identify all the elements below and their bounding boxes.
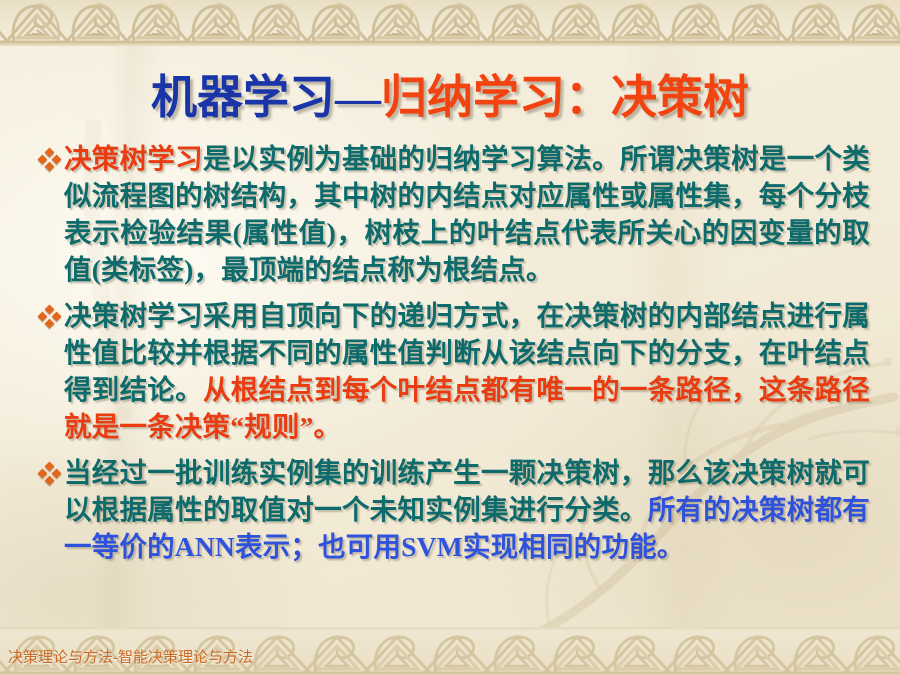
diamond-bullet-icon	[37, 147, 61, 171]
bullet-text-2: 决策树学习采用自顶向下的递归方式，在决策树的内部结点进行属性值比较并根据不同的属…	[64, 297, 870, 445]
bullet-list: 决策树学习是以实例为基础的归纳学习算法。所谓决策树是一个类似流程图的树结构，其中…	[34, 140, 870, 574]
bullet-text-1: 决策树学习是以实例为基础的归纳学习算法。所谓决策树是一个类似流程图的树结构，其中…	[64, 140, 870, 288]
slide-title: 机器学习—归纳学习：决策树	[0, 70, 900, 126]
title-part-1: 机器学习—	[151, 72, 381, 123]
slide-canvas: 机器学习—归纳学习：决策树 决策树学习是以实例为基础的归纳学习算法。所谓决策树是…	[0, 0, 900, 675]
bullet-1-run-1: 决策树学习	[64, 143, 203, 174]
list-item: 决策树学习采用自顶向下的递归方式，在决策树的内部结点进行属性值比较并根据不同的属…	[34, 297, 870, 445]
bullet-marker	[34, 454, 64, 482]
diamond-bullet-icon	[37, 304, 61, 328]
bullet-marker	[34, 140, 64, 168]
bullet-marker	[34, 297, 64, 325]
diamond-bullet-icon	[37, 461, 61, 485]
bullet-text-3: 当经过一批训练实例集的训练产生一颗决策树，那么该决策树就可以根据属性的取值对一个…	[64, 454, 870, 565]
title-part-2: 归纳学习：决策树	[381, 72, 749, 123]
list-item: 当经过一批训练实例集的训练产生一颗决策树，那么该决策树就可以根据属性的取值对一个…	[34, 454, 870, 565]
slide-footer: 决策理论与方法-智能决策理论与方法	[8, 648, 253, 668]
list-item: 决策树学习是以实例为基础的归纳学习算法。所谓决策树是一个类似流程图的树结构，其中…	[34, 140, 870, 288]
